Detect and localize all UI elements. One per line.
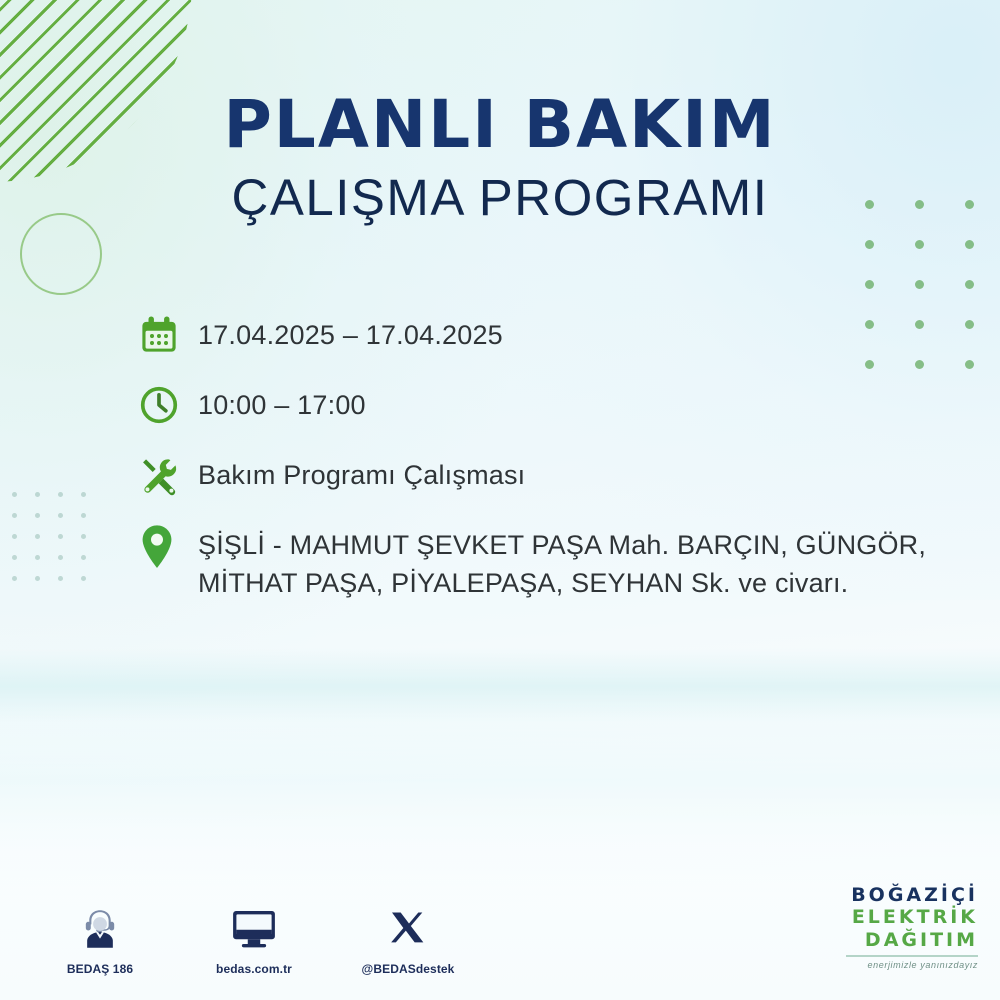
time-range-text: 10:00 – 17:00 — [198, 382, 366, 424]
social-links: BEDAŞ 186 bedas.com.tr @BEDASdestek — [45, 903, 463, 976]
page-header: PLANLI BAKIM ÇALIŞMA PROGRAMI — [0, 92, 1000, 223]
monitor-icon — [199, 903, 309, 955]
location-text: ŞİŞLİ - MAHMUT ŞEVKET PAŞA Mah. BARÇIN, … — [198, 522, 978, 603]
page-title: PLANLI BAKIM — [0, 92, 1000, 158]
call-center-agent-icon — [45, 903, 155, 955]
x-account-label: @BEDASdestek — [353, 962, 463, 976]
calendar-icon — [138, 312, 198, 356]
logo-tagline: enerjimizle yanınızdayız — [846, 960, 978, 970]
clock-icon — [138, 382, 198, 426]
page-footer: BEDAŞ 186 bedas.com.tr @BEDASdestek — [0, 880, 1000, 990]
date-range-text: 17.04.2025 – 17.04.2025 — [198, 312, 503, 354]
logo-line-bogazici: BOĞAZİÇİ — [846, 884, 978, 906]
contact-website[interactable]: bedas.com.tr — [199, 903, 309, 976]
logo-line-elektrik: ELEKTRİK — [846, 906, 978, 928]
outage-info-list: 17.04.2025 – 17.04.2025 10:00 – 17:00 Ba… — [138, 312, 978, 603]
dot-grid-left-decoration — [12, 492, 104, 597]
info-row-time: 10:00 – 17:00 — [138, 382, 978, 426]
info-row-worktype: Bakım Programı Çalışması — [138, 452, 978, 496]
circle-outline-decoration — [20, 213, 102, 295]
call-center-label: BEDAŞ 186 — [45, 962, 155, 976]
logo-line-dagitim: DAĞITIM — [846, 929, 978, 951]
bedas-logo: BOĞAZİÇİ ELEKTRİK DAĞITIM enerjimizle ya… — [846, 884, 978, 970]
info-row-date: 17.04.2025 – 17.04.2025 — [138, 312, 978, 356]
work-type-text: Bakım Programı Çalışması — [198, 452, 525, 494]
website-label: bedas.com.tr — [199, 962, 309, 976]
logo-divider — [846, 955, 978, 957]
contact-call-center[interactable]: BEDAŞ 186 — [45, 903, 155, 976]
tools-icon — [138, 452, 198, 496]
contact-x-account[interactable]: @BEDASdestek — [353, 903, 463, 976]
x-twitter-icon — [353, 903, 463, 955]
page-subtitle: ÇALIŞMA PROGRAMI — [0, 172, 1000, 223]
info-row-location: ŞİŞLİ - MAHMUT ŞEVKET PAŞA Mah. BARÇIN, … — [138, 522, 978, 603]
map-pin-icon — [138, 522, 198, 570]
